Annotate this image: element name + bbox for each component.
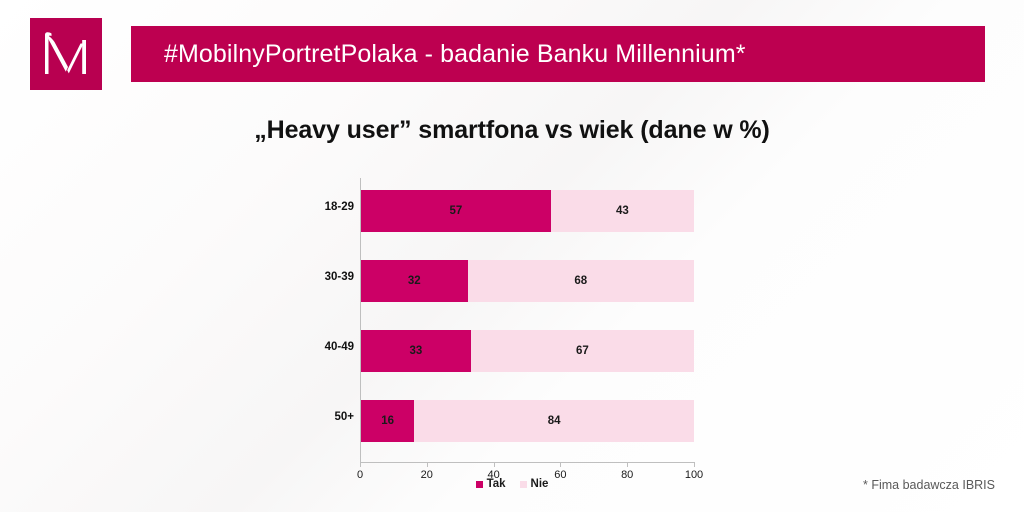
x-tick-mark [560, 462, 561, 467]
legend-label-nie: Nie [531, 478, 549, 490]
bar-segment-nie[interactable]: 67 [471, 330, 694, 372]
bar-segment-tak[interactable]: 57 [361, 190, 551, 232]
legend-item-nie[interactable]: Nie [520, 478, 549, 490]
bar-segment-tak[interactable]: 16 [361, 400, 414, 442]
chart-title: „Heavy user” smartfona vs wiek (dane w %… [0, 116, 1024, 145]
category-label: 50+ [292, 396, 354, 438]
logo-m-glyph [38, 26, 94, 82]
bar-row: 16 84 [361, 400, 694, 442]
bar-row: 57 43 [361, 190, 694, 232]
header-title: #MobilnyPortretPolaka - badanie Banku Mi… [131, 40, 746, 69]
footnote: * Fima badawcza IBRIS [863, 478, 995, 492]
legend-swatch-tak [476, 481, 483, 488]
millennium-logo [30, 18, 102, 90]
x-tick-mark [427, 462, 428, 467]
x-tick-mark [360, 462, 361, 467]
legend-item-tak[interactable]: Tak [476, 478, 506, 490]
x-tick-mark [694, 462, 695, 467]
category-label: 30-39 [292, 256, 354, 298]
plot-area: 57 43 32 68 33 67 16 84 [361, 182, 694, 464]
x-tick-mark [627, 462, 628, 467]
x-tick-mark [494, 462, 495, 467]
bar-row: 32 68 [361, 260, 694, 302]
bar-segment-nie[interactable]: 68 [468, 260, 694, 302]
bar-segment-nie[interactable]: 43 [551, 190, 694, 232]
bar-segment-tak[interactable]: 33 [361, 330, 471, 372]
legend-swatch-nie [520, 481, 527, 488]
bar-segment-nie[interactable]: 84 [414, 400, 694, 442]
category-label: 40-49 [292, 326, 354, 368]
header-bar: #MobilnyPortretPolaka - badanie Banku Mi… [131, 26, 985, 82]
stacked-bar-chart: 18-29 30-39 40-49 50+ 57 43 32 68 33 67 … [290, 178, 710, 498]
bar-row: 33 67 [361, 330, 694, 372]
category-label: 18-29 [292, 186, 354, 228]
legend-label-tak: Tak [487, 478, 506, 490]
bar-segment-tak[interactable]: 32 [361, 260, 468, 302]
slide: #MobilnyPortretPolaka - badanie Banku Mi… [0, 0, 1024, 512]
